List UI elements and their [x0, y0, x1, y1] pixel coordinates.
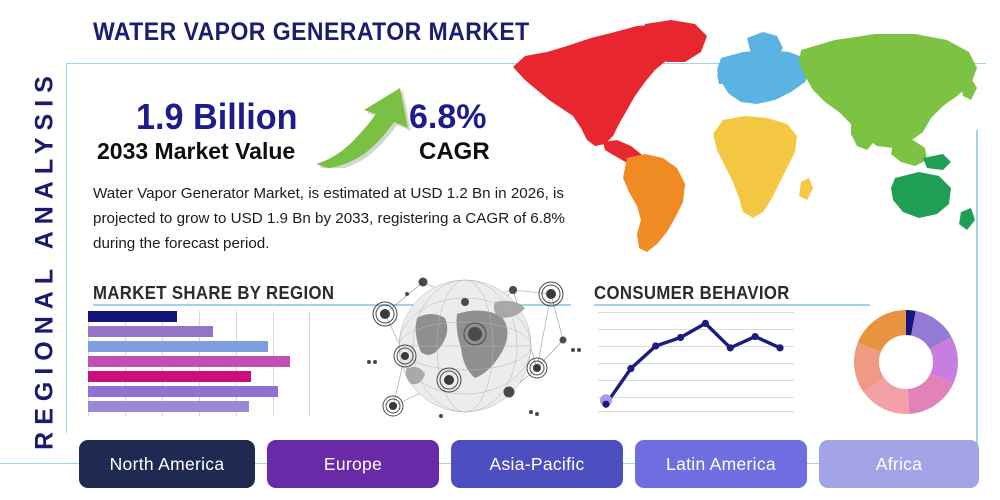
global-network-globe-icon	[345, 272, 585, 424]
region-button-africa[interactable]: Africa	[819, 440, 979, 488]
region-button-label: Europe	[324, 454, 382, 475]
map-region-madagascar	[799, 178, 813, 200]
cagr-number: 6.8%	[409, 98, 487, 137]
bar-row	[88, 356, 290, 367]
bar-row	[88, 341, 268, 352]
region-button-label: Asia-Pacific	[489, 454, 584, 475]
market-value-label: 2033 Market Value	[97, 138, 295, 165]
button-connector	[623, 463, 635, 464]
description-text: Water Vapor Generator Market, is estimat…	[93, 181, 583, 256]
map-region-new-zealand	[959, 208, 975, 230]
side-label-regional-analysis: REGIONAL ANALYSIS	[31, 60, 60, 460]
growth-arrow-icon	[312, 84, 416, 168]
map-region-new-guinea	[923, 154, 951, 170]
map-region-africa	[713, 116, 797, 218]
line-marker	[652, 342, 659, 349]
bar-chart-market-share	[88, 311, 310, 416]
region-button-label: Africa	[876, 454, 923, 475]
region-button-row: North AmericaEuropeAsia-PacificLatin Ame…	[79, 440, 987, 488]
line-marker	[702, 320, 709, 327]
map-region-south-america	[623, 154, 685, 252]
button-connector	[439, 463, 451, 464]
bar-row	[88, 401, 249, 412]
region-button-asia-pacific[interactable]: Asia-Pacific	[451, 440, 623, 488]
region-button-label: Latin America	[666, 454, 776, 475]
line-marker	[752, 333, 759, 340]
cagr-label: CAGR	[419, 138, 490, 166]
map-region-southeast-asia	[891, 140, 927, 166]
region-button-latin-america[interactable]: Latin America	[635, 440, 807, 488]
bar-row	[88, 311, 177, 322]
region-button-europe[interactable]: Europe	[267, 440, 439, 488]
map-region-asia	[799, 34, 977, 148]
line-marker	[727, 344, 734, 351]
button-row-left-rule	[0, 463, 82, 464]
button-connector	[255, 463, 267, 464]
infographic-root: REGIONAL ANALYSIS WATER VAPOR GENERATOR …	[0, 0, 1000, 500]
market-value-number: 1.9 Billion	[136, 96, 298, 138]
bar-row	[88, 371, 251, 382]
line-chart-consumer-behavior	[598, 306, 794, 416]
region-button-label: North America	[110, 454, 225, 475]
map-region-australia	[891, 172, 951, 218]
line-marker	[602, 401, 609, 408]
line-marker	[776, 344, 783, 351]
button-connector	[807, 463, 819, 464]
region-button-north-america[interactable]: North America	[79, 440, 255, 488]
donut-chart-region-share	[852, 308, 960, 416]
section-title-consumer-behavior: CONSUMER BEHAVIOR	[594, 283, 790, 304]
page-title: WATER VAPOR GENERATOR MARKET	[93, 18, 530, 47]
line-marker	[627, 365, 634, 372]
line-marker	[677, 334, 684, 341]
bar-row	[88, 326, 213, 337]
section-title-market-share: MARKET SHARE BY REGION	[93, 283, 334, 304]
bar-row	[88, 386, 278, 397]
